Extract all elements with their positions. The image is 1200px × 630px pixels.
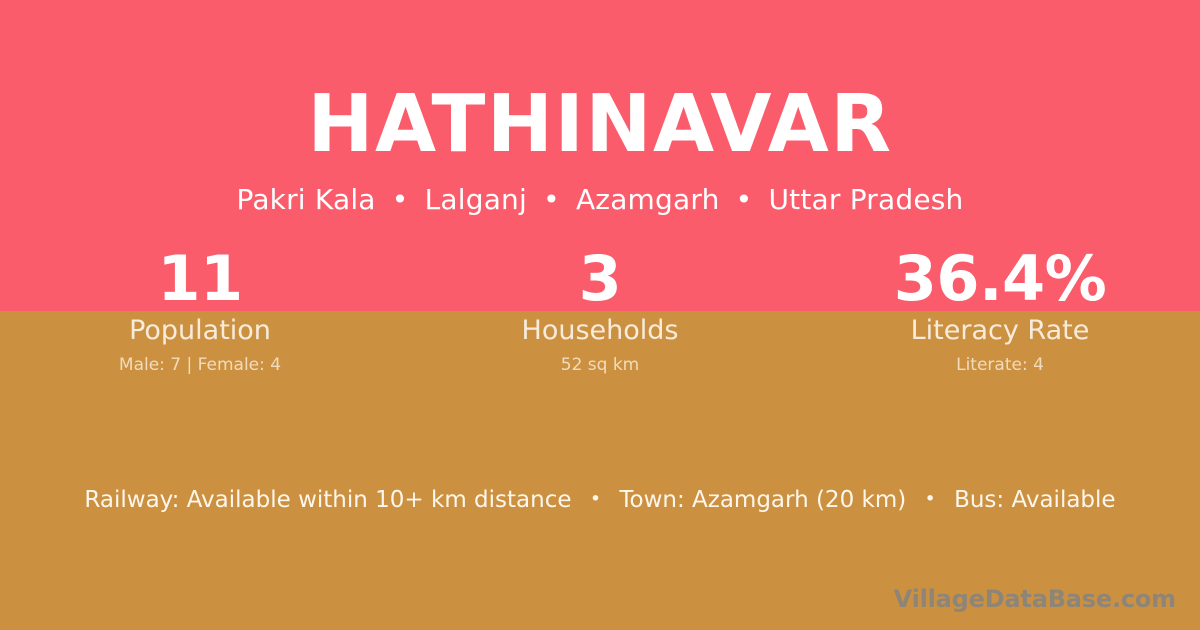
stat-value: 3 — [400, 246, 800, 312]
location-part-state: Uttar Pradesh — [768, 183, 963, 216]
location-breadcrumb: Pakri Kala • Lalganj • Azamgarh • Uttar … — [0, 182, 1200, 218]
stats-row: 11 Population Male: 7 | Female: 4 3 Hous… — [0, 246, 1200, 376]
info-separator-icon: • — [914, 488, 947, 510]
stat-label: Households — [400, 314, 800, 347]
info-item-town: Town: Azamgarh (20 km) — [619, 487, 906, 513]
info-separator-icon: • — [579, 488, 612, 510]
location-part-village: Pakri Kala — [237, 183, 376, 216]
breadcrumb-separator-icon: • — [729, 183, 760, 216]
village-info-card: HATHINAVAR Pakri Kala • Lalganj • Azamga… — [0, 0, 1200, 630]
stat-literacy-rate: 36.4% Literacy Rate Literate: 4 — [800, 246, 1200, 376]
page-title: HATHINAVAR — [0, 79, 1200, 169]
info-item-railway: Railway: Available within 10+ km distanc… — [84, 487, 571, 513]
site-branding: VillageDataBase.com — [894, 584, 1176, 614]
stat-value: 36.4% — [800, 246, 1200, 312]
stat-value: 11 — [0, 246, 400, 312]
stat-sublabel: Male: 7 | Female: 4 — [0, 354, 400, 376]
stat-population: 11 Population Male: 7 | Female: 4 — [0, 246, 400, 376]
stat-sublabel: Literate: 4 — [800, 354, 1200, 376]
breadcrumb-separator-icon: • — [536, 183, 567, 216]
breadcrumb-separator-icon: • — [385, 183, 416, 216]
stat-households: 3 Households 52 sq km — [400, 246, 800, 376]
stat-sublabel: 52 sq km — [400, 354, 800, 376]
info-item-bus: Bus: Available — [954, 487, 1116, 513]
card-content: HATHINAVAR Pakri Kala • Lalganj • Azamga… — [0, 0, 1200, 630]
amenities-info-row: Railway: Available within 10+ km distanc… — [0, 485, 1200, 517]
stat-label: Literacy Rate — [800, 314, 1200, 347]
location-part-block: Lalganj — [425, 183, 527, 216]
location-part-district: Azamgarh — [576, 183, 720, 216]
stat-label: Population — [0, 314, 400, 347]
